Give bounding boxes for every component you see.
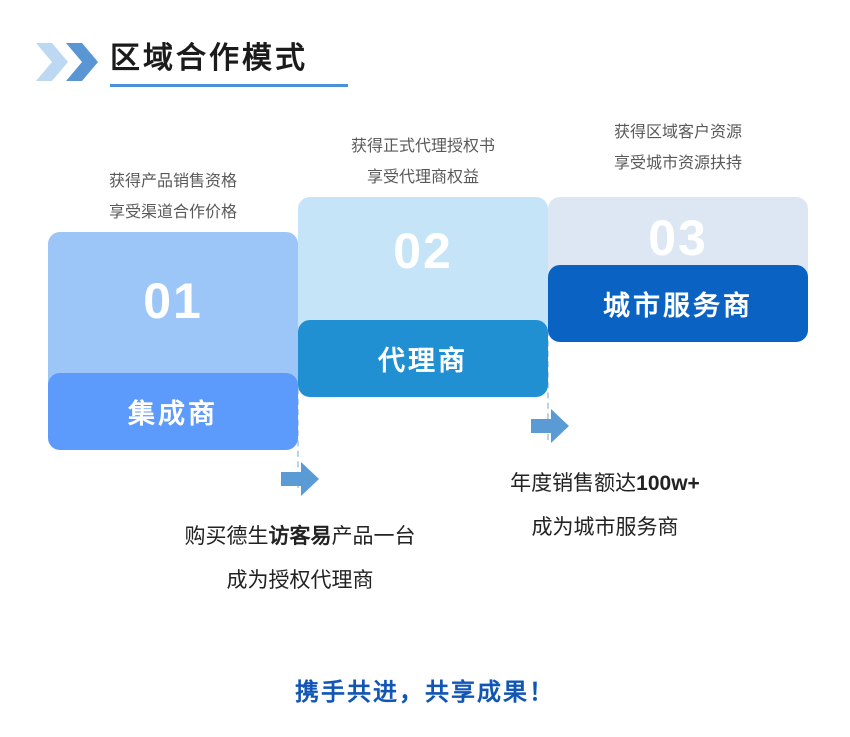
step-01-role-bar[interactable]: 集成商	[48, 373, 298, 450]
chevron-group	[36, 43, 108, 81]
slide-canvas: 区域合作模式 获得产品销售资格 享受渠道合作价格 01 集成商 获得正式代理授权…	[0, 0, 850, 737]
caption-1-line-1: 购买德生访客易产品一台	[145, 515, 455, 559]
step-03-desc-line-2: 享受城市资源扶持	[548, 148, 808, 179]
step-02-card[interactable]: 02 代理商	[298, 197, 548, 397]
caption-2: 年度销售额达100w+ 成为城市服务商	[455, 462, 755, 550]
page-title-text: 区域合作模式	[110, 40, 308, 78]
step-01-desc-line-1: 获得产品销售资格	[48, 166, 298, 197]
step-02-desc-line-1: 获得正式代理授权书	[298, 131, 548, 162]
step-02-role-label: 代理商	[378, 339, 468, 378]
caption-2-bold: 100w+	[636, 472, 700, 495]
step-01-card[interactable]: 01 集成商	[48, 232, 298, 450]
step-03-description: 获得区域客户资源 享受城市资源扶持	[548, 117, 808, 179]
caption-1: 购买德生访客易产品一台 成为授权代理商	[145, 515, 455, 603]
arrow-right-icon-2	[531, 409, 569, 443]
arrow-right-icon-1	[281, 462, 319, 496]
header: 区域合作模式	[0, 0, 850, 100]
step-03-role-label: 城市服务商	[603, 284, 753, 323]
caption-1-pre: 购买德生	[185, 525, 269, 548]
caption-2-line-2: 成为城市服务商	[455, 506, 755, 550]
step-02-description: 获得正式代理授权书 享受代理商权益	[298, 131, 548, 193]
step-03-number: 03	[548, 209, 808, 267]
caption-2-line-1: 年度销售额达100w+	[455, 462, 755, 506]
caption-1-line-2: 成为授权代理商	[145, 559, 455, 603]
step-03-card[interactable]: 03 城市服务商	[548, 197, 808, 342]
step-02-role-bar[interactable]: 代理商	[298, 320, 548, 397]
step-01-number: 01	[48, 272, 298, 330]
title-underline	[110, 84, 348, 87]
step-01-role-label: 集成商	[128, 392, 218, 431]
chevron-right-icon-dark	[66, 43, 100, 81]
step-03-desc-line-1: 获得区域客户资源	[548, 117, 808, 148]
step-03-role-bar[interactable]: 城市服务商	[548, 265, 808, 342]
step-01-description: 获得产品销售资格 享受渠道合作价格	[48, 166, 298, 228]
step-01-desc-line-2: 享受渠道合作价格	[48, 197, 298, 228]
caption-2-pre: 年度销售额达	[510, 472, 636, 495]
caption-1-bold: 访客易	[269, 525, 332, 548]
page-title: 区域合作模式	[110, 40, 308, 78]
footer-slogan: 携手共进，共享成果！	[0, 672, 850, 707]
chevron-right-icon-light	[36, 43, 70, 81]
caption-1-post: 产品一台	[332, 525, 416, 548]
step-02-number: 02	[298, 222, 548, 280]
step-02-desc-line-2: 享受代理商权益	[298, 162, 548, 193]
